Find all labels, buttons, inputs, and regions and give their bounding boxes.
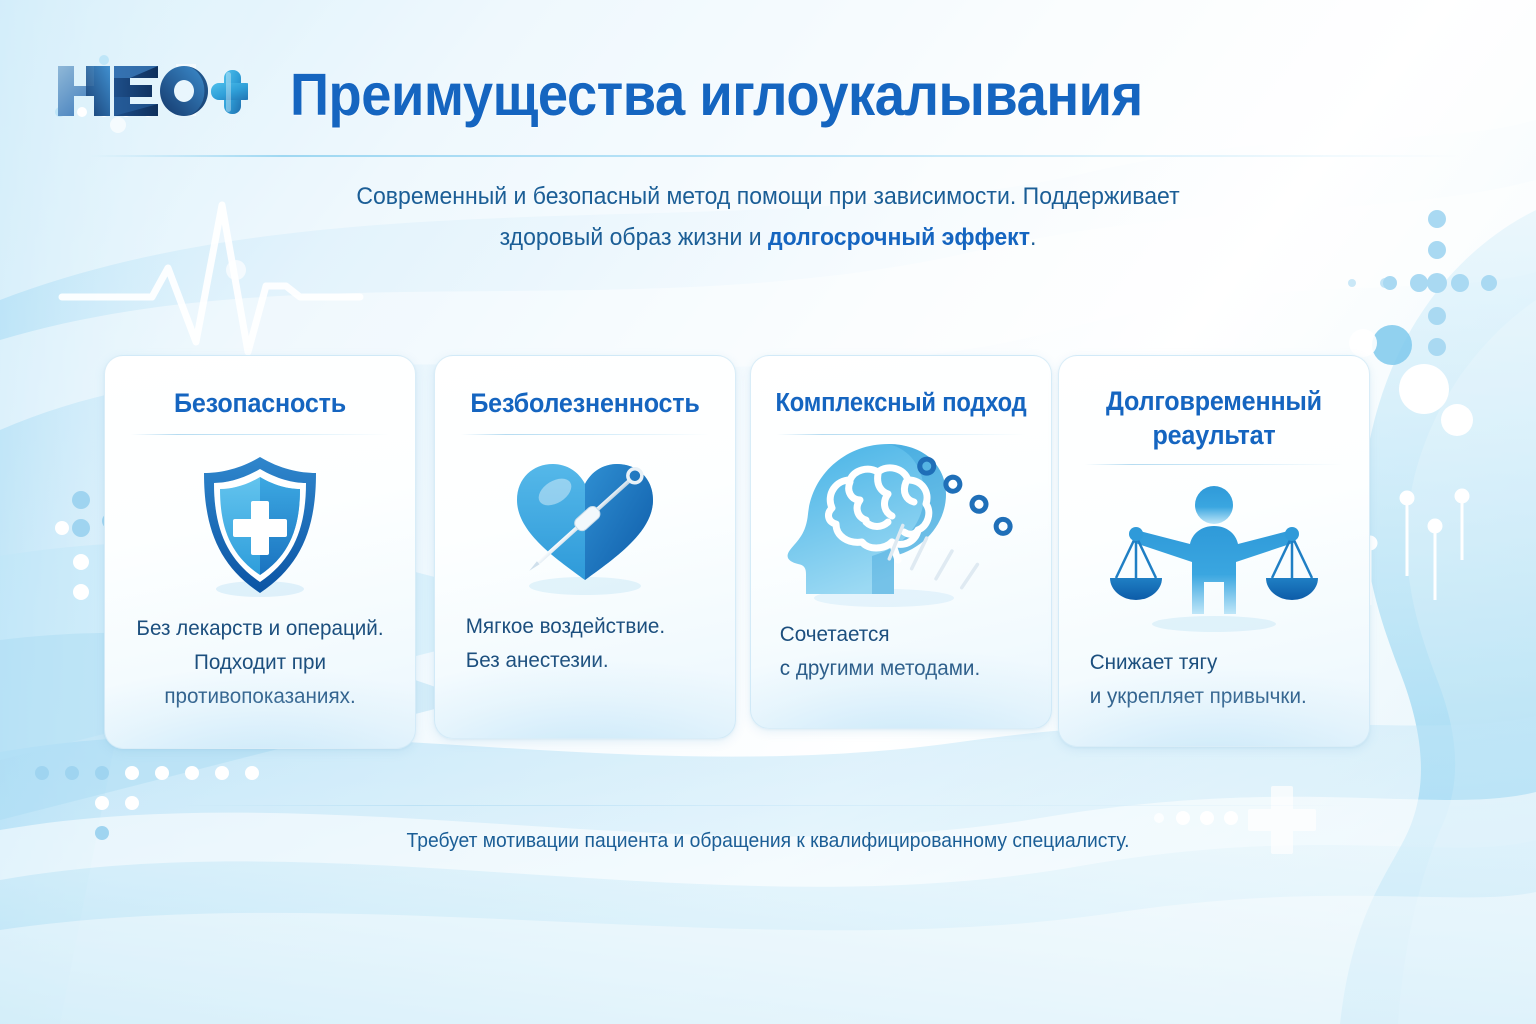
card-divider bbox=[461, 434, 709, 435]
card-divider bbox=[131, 434, 389, 435]
subtitle-line-2-prefix: здоровый образ жизни и bbox=[500, 224, 768, 251]
subtitle: Современный и безопасный метод помощи пр… bbox=[298, 176, 1238, 258]
neo-plus-logo[interactable] bbox=[48, 52, 248, 124]
subtitle-line-2-suffix: . bbox=[1030, 224, 1036, 251]
head-brain-needles-icon bbox=[751, 435, 1051, 613]
card-body: Сочетается с другими методами. bbox=[751, 617, 1039, 685]
benefit-card-longterm[interactable]: Долговременный реаультат bbox=[1058, 355, 1370, 747]
card-body: Снижает тягу и укрепляет привычки. bbox=[1059, 645, 1357, 713]
dot-row-bottom-right bbox=[1154, 811, 1238, 825]
card-body-line-1: Снижает тягу bbox=[1090, 650, 1218, 674]
card-title: Безопасность bbox=[116, 386, 404, 420]
benefit-card-complex[interactable]: Комплексный подход bbox=[750, 355, 1052, 729]
subtitle-line-1: Современный и безопасный метод помощи пр… bbox=[356, 183, 1179, 210]
benefit-card-safety[interactable]: Безопасность bbox=[104, 355, 416, 749]
header-divider bbox=[90, 155, 1460, 157]
dot-row-bottom-left bbox=[35, 766, 259, 840]
footer-note: Требует мотивации пациента и обращения к… bbox=[298, 826, 1238, 856]
card-title: Долговременный реаультат bbox=[1070, 384, 1358, 452]
card-body-line-2: Без анестезии. bbox=[466, 648, 609, 672]
card-body: Без лекарств и операций. Подходит при пр… bbox=[111, 611, 409, 713]
figure-scales-icon bbox=[1059, 471, 1369, 643]
footer-divider bbox=[180, 805, 1360, 806]
page-title: Преимущества иглоукалывания bbox=[290, 56, 1136, 134]
card-body-line-2: с другими методами. bbox=[780, 656, 980, 680]
card-body: Мягкое воздействие. Без анестезии. bbox=[435, 609, 723, 677]
page-header: Преимущества иглоукалывания bbox=[0, 0, 1536, 152]
subtitle-highlight: долгосрочный эффект bbox=[768, 224, 1030, 251]
card-title: Комплексный подход bbox=[762, 386, 1041, 420]
infographic-root: Преимущества иглоукалывания Современный … bbox=[0, 0, 1536, 1024]
card-body-line-1: Сочетается bbox=[780, 622, 890, 646]
shield-cross-icon bbox=[105, 441, 415, 611]
card-body-line-2: и укрепляет привычки. bbox=[1090, 684, 1307, 708]
card-body-line-1: Мягкое воздействие. bbox=[466, 614, 665, 638]
card-divider bbox=[1085, 464, 1343, 465]
benefit-card-painless[interactable]: Безболезненность bbox=[434, 355, 736, 739]
card-title: Безболезненность bbox=[446, 386, 725, 420]
benefit-cards: Безопасность bbox=[0, 355, 1536, 755]
plus-bottom-right bbox=[1248, 786, 1316, 854]
dot-cross-top-right bbox=[1348, 210, 1497, 356]
heart-needle-icon bbox=[435, 437, 735, 609]
